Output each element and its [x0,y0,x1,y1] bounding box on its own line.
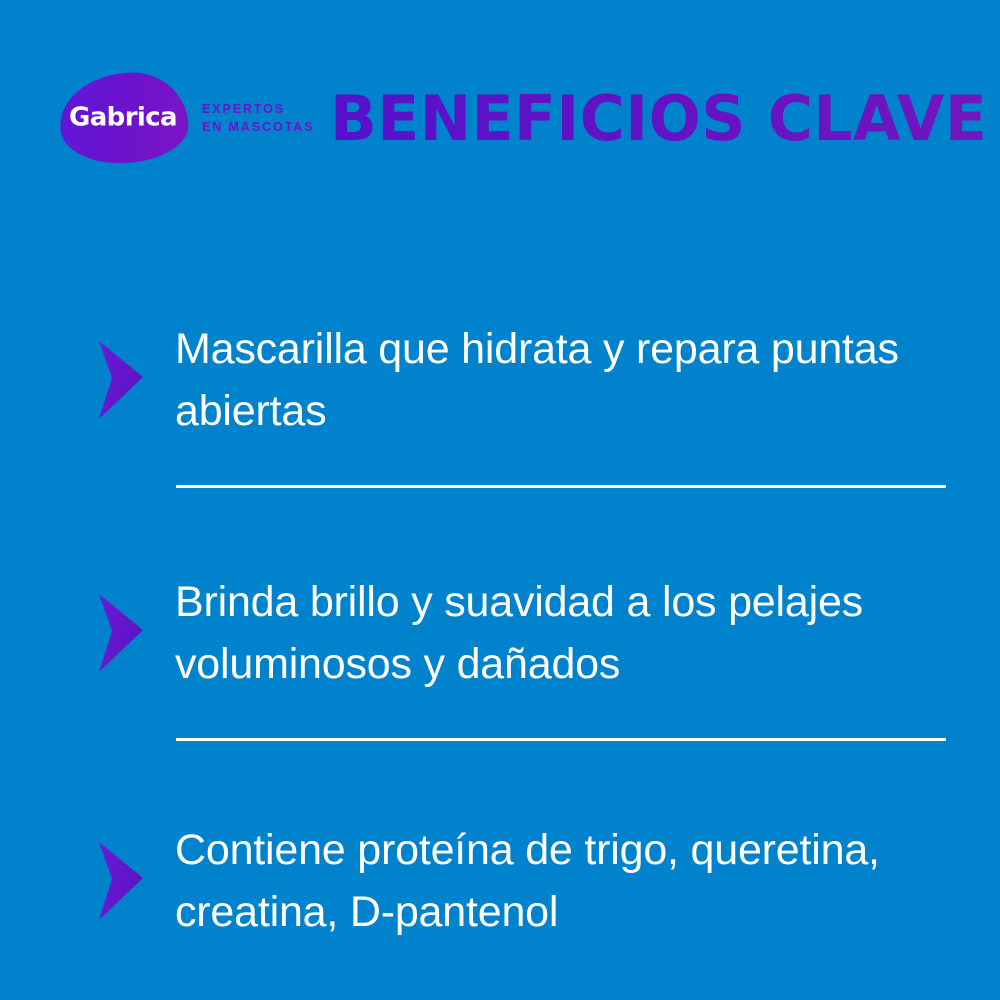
benefit-divider [176,738,946,741]
chevron-arrow-icon [97,594,145,672]
benefit-text: Mascarilla que hidrata y repara puntas a… [175,318,965,442]
benefits-list: Mascarilla que hidrata y repara puntas a… [0,200,1000,1000]
chevron-arrow-icon [97,341,145,419]
benefit-item: Mascarilla que hidrata y repara puntas a… [0,300,1000,460]
benefit-item: Contiene proteína de trigo, queretina, c… [0,801,1000,961]
benefit-divider [176,485,946,488]
page-title: BENEFICIOS CLAVE [330,88,987,150]
brand-lockup: Gabrica EXPERTOS EN MASCOTAS [60,72,314,164]
benefit-text: Contiene proteína de trigo, queretina, c… [175,819,965,943]
benefits-card: Gabrica EXPERTOS EN MASCOTAS BENEFICIOS … [0,0,1000,1000]
benefit-item: Brinda brillo y suavidad a los pelajes v… [0,553,1000,713]
gabrica-blob-logo: Gabrica [60,73,188,163]
card-header: Gabrica EXPERTOS EN MASCOTAS BENEFICIOS … [0,0,1000,200]
brand-tagline: EXPERTOS EN MASCOTAS [202,100,314,136]
chevron-arrow-icon [97,842,145,920]
benefit-text: Brinda brillo y suavidad a los pelajes v… [175,571,965,695]
logo-wordmark: Gabrica [60,102,186,132]
